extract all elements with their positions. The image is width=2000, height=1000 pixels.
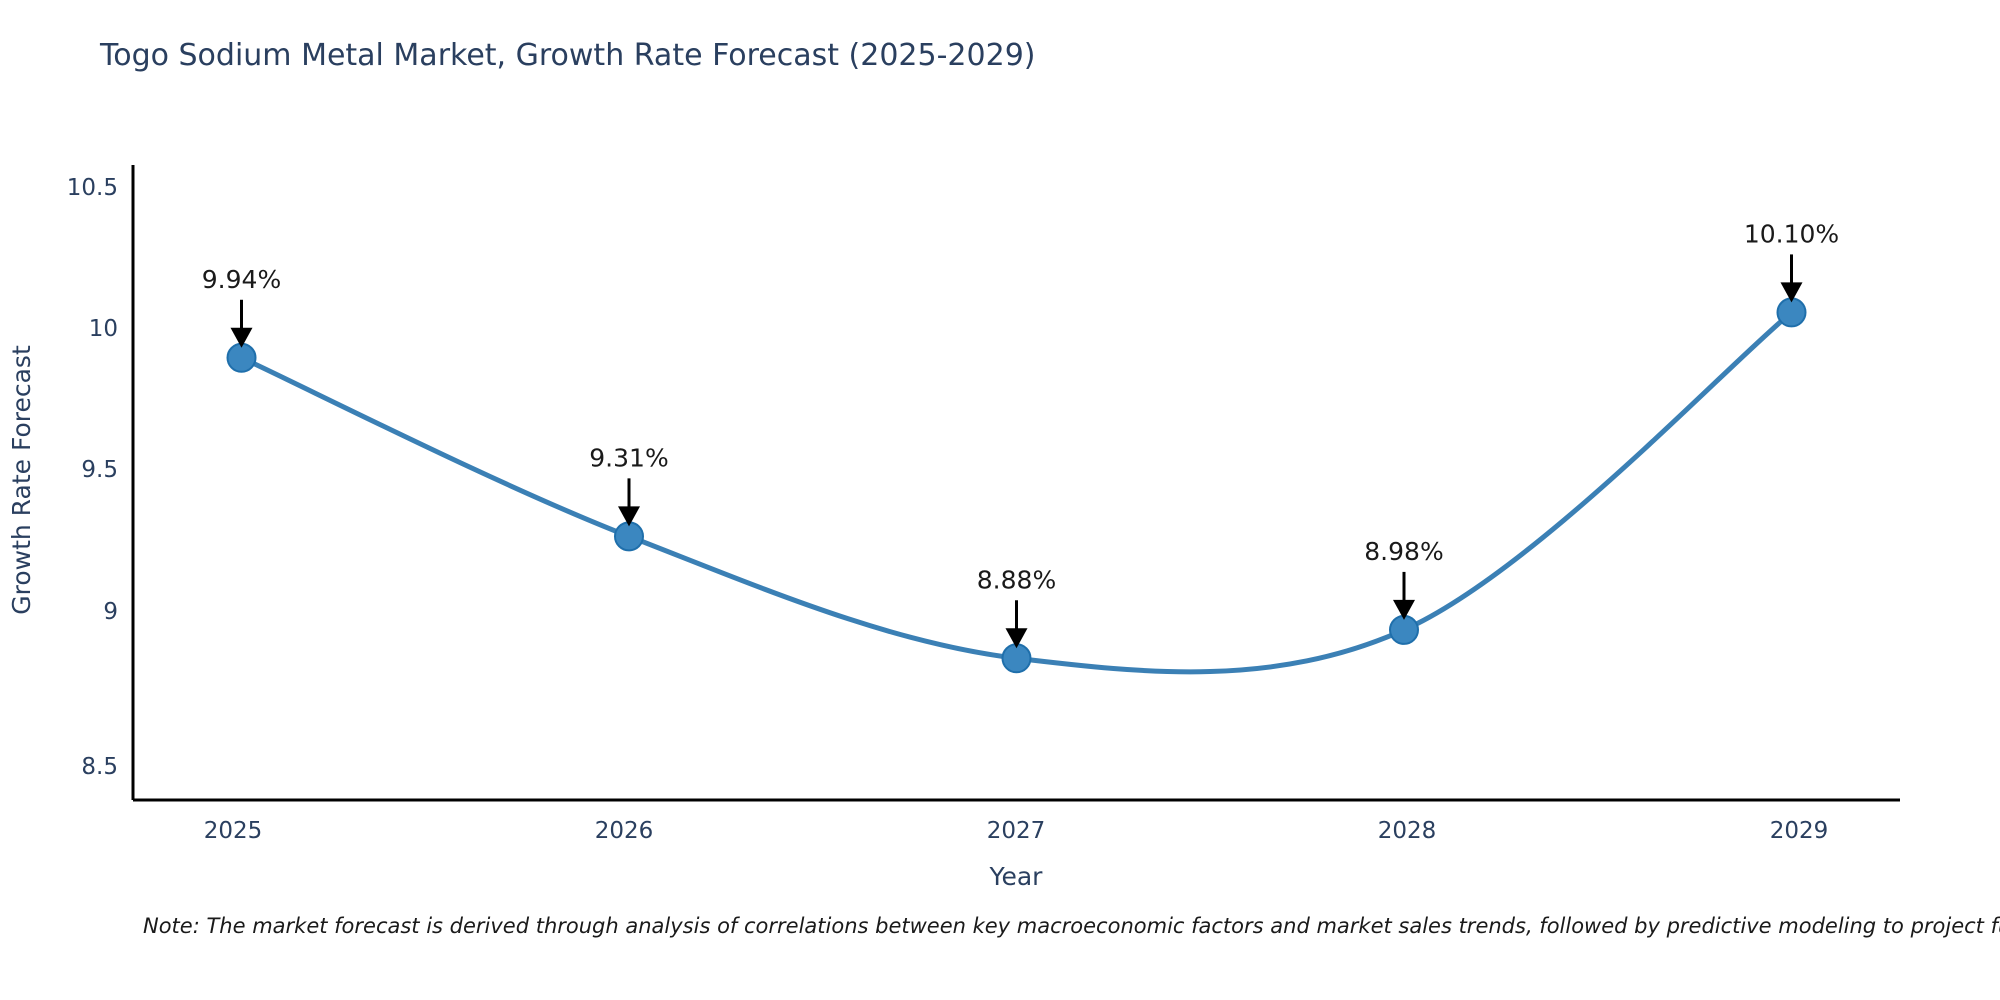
y-tick-label-10: 10 [89, 316, 118, 342]
data-point-label: 8.88% [977, 565, 1056, 594]
chart-figure: Togo Sodium Metal Market, Growth Rate Fo… [0, 0, 2000, 1000]
annotation-arrow-head [618, 506, 640, 526]
annotation-arrow-head [1006, 628, 1028, 648]
annotation-arrow-head [1393, 600, 1415, 620]
x-tick-label-2029: 2029 [1770, 818, 1829, 844]
data-point-label: 10.10% [1744, 219, 1839, 248]
x-tick-label-2027: 2027 [987, 818, 1046, 844]
data-point-marker [1778, 298, 1806, 326]
x-axis-title: Year [989, 862, 1044, 891]
data-point-label: 9.94% [202, 265, 281, 294]
y-axis-title: Growth Rate Forecast [7, 345, 36, 615]
data-point-marker [228, 344, 256, 372]
annotation-arrow-head [1781, 282, 1803, 302]
line-chart-plot: 10.5 10 9.5 9 8.5 2025 2026 2027 2028 20… [0, 0, 2000, 1000]
data-point-label: 9.31% [589, 443, 668, 472]
x-tick-label-2025: 2025 [204, 818, 263, 844]
data-point-marker [1003, 644, 1031, 672]
x-tick-label-2026: 2026 [595, 818, 654, 844]
data-point-label: 8.98% [1364, 537, 1443, 566]
chart-footnote: Note: The market forecast is derived thr… [143, 914, 2000, 938]
annotation-arrow-head [231, 328, 253, 348]
y-tick-label-8.5: 8.5 [81, 754, 118, 780]
y-tick-label-9: 9 [103, 599, 118, 625]
data-point-marker [615, 522, 643, 550]
y-tick-label-9.5: 9.5 [81, 457, 118, 483]
data-point-annotations: 9.94%9.31%8.88%8.98%10.10% [202, 219, 1839, 648]
x-tick-label-2028: 2028 [1378, 818, 1437, 844]
y-tick-label-10.5: 10.5 [67, 175, 118, 201]
data-point-marker [1390, 616, 1418, 644]
